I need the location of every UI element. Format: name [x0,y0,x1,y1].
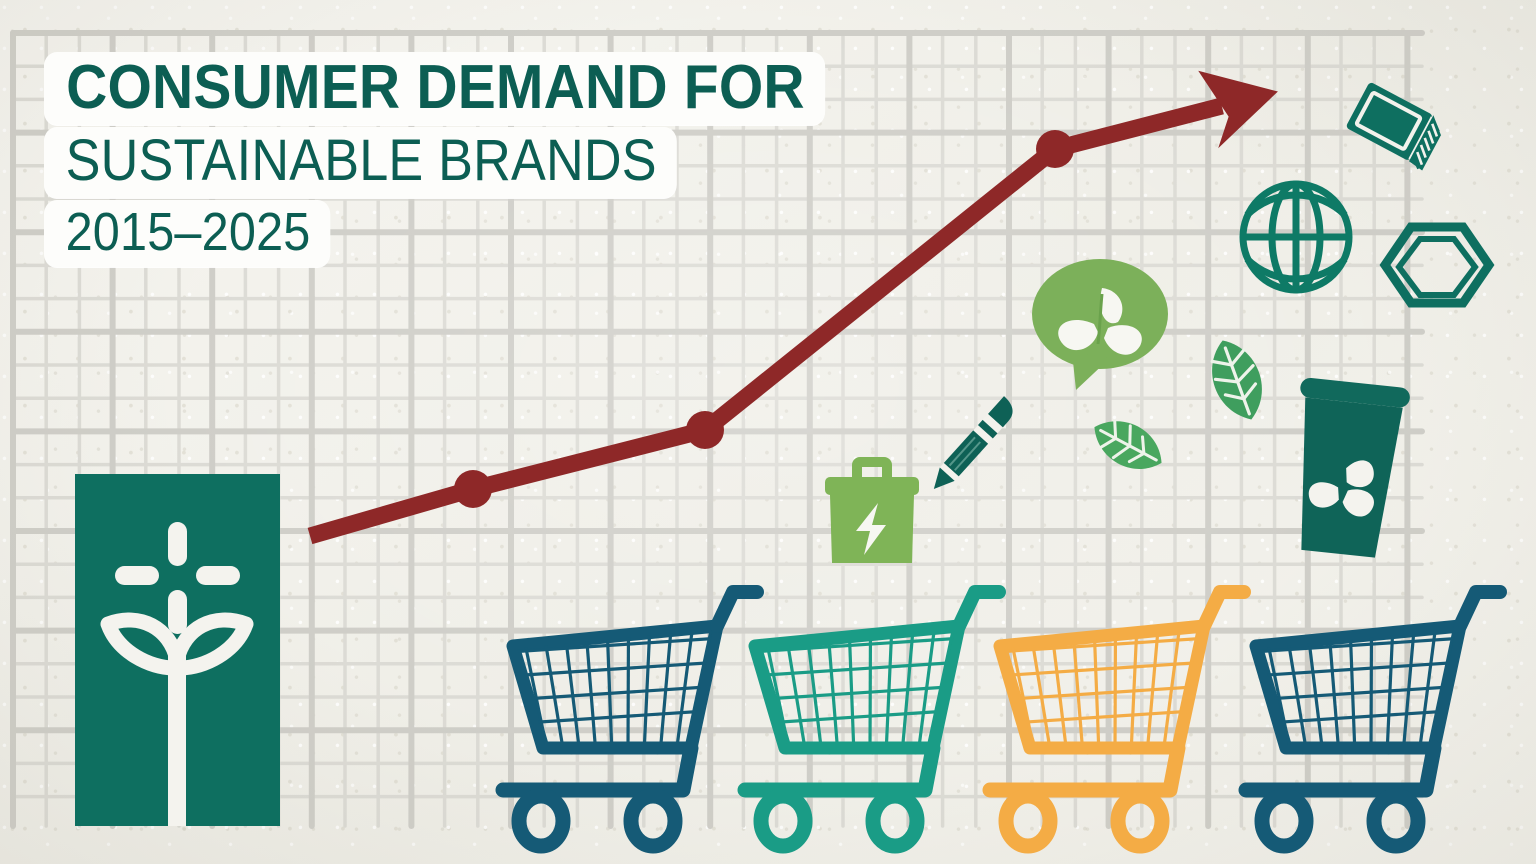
title-block: CONSUMER DEMAND FOR SUSTAINABLE BRANDS 2… [44,52,844,267]
page-subtitle: SUSTAINABLE BRANDS [44,127,677,198]
leaf-icon-upper [1201,333,1273,428]
infographic-canvas: CONSUMER DEMAND FOR SUSTAINABLE BRANDS 2… [0,0,1536,864]
pencil-icon [926,396,1018,496]
energy-bin-icon [825,457,919,563]
recycle-bin-icon [1283,377,1410,560]
leaf-icon-lower [1085,409,1172,482]
globe-icon [1243,184,1349,290]
page-title: CONSUMER DEMAND FOR [44,52,825,125]
page-date-range: 2015–2025 [44,200,330,267]
notebook-icon [1344,81,1447,170]
hexagon-icon [1385,227,1489,303]
eco-speech-bubble-icon [1032,259,1168,390]
